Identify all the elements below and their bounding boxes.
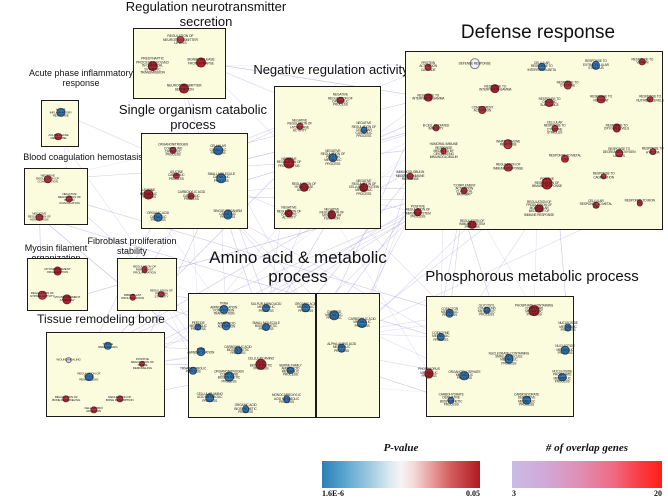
pvalue-max-label: 0.05	[458, 489, 480, 498]
cluster-title-blood-coagulation-hemostasis: Blood coagulation hemostasis	[8, 152, 158, 162]
overlap-colorbar	[512, 461, 662, 488]
pvalue-legend-title: P-value	[330, 442, 472, 454]
cluster-box-myosin-filament-organization[interactable]	[27, 258, 88, 311]
cluster-box-amino-acid-oxo-subcluster[interactable]	[316, 293, 380, 418]
cluster-box-acute-phase-inflammatory-response[interactable]	[41, 100, 79, 147]
cluster-box-fibroblast-proliferation-stability[interactable]	[117, 258, 177, 311]
overlap-legend-title: # of overlap genes	[512, 442, 662, 454]
pvalue-min-label: 1.6E-6	[322, 489, 344, 498]
cluster-box-single-organism-catabolic-process[interactable]	[141, 133, 248, 229]
cluster-box-amino-acid-metabolic-process[interactable]	[188, 293, 316, 418]
cluster-title-acute-phase-inflammatory-response: Acute phase inflammatory response	[14, 68, 148, 88]
cluster-title-negative-regulation-activity: Negative regulation activity	[235, 63, 427, 78]
pvalue-colorbar	[322, 461, 480, 488]
cluster-title-regulation-neurotransmitter-secretion: Regulation neurotransmitter secretion	[88, 0, 324, 29]
cluster-title-fibroblast-proliferation-stability: Fibroblast proliferation stability	[78, 236, 186, 256]
cluster-box-defense-response[interactable]	[405, 51, 663, 230]
cluster-title-single-organism-catabolic-process: Single organism catabolic process	[84, 103, 302, 132]
cluster-title-tissue-remodeling-bone: Tissue remodeling bone	[20, 313, 182, 326]
enrichment-map-figure: Regulation neurotransmitter secretionREG…	[0, 0, 668, 488]
cluster-box-phosphorous-metabolic-process[interactable]	[426, 296, 574, 417]
cluster-box-regulation-neurotransmitter-secretion[interactable]	[133, 28, 226, 99]
overlap-max-label: 20	[648, 489, 662, 498]
cluster-title-amino-acid-metabolic-process: Amino acid & metabolic process	[178, 248, 418, 286]
cluster-box-tissue-remodeling-bone[interactable]	[46, 332, 165, 417]
overlap-min-label: 3	[512, 489, 516, 498]
cluster-title-defense-response: Defense response	[420, 22, 656, 43]
cluster-box-blood-coagulation-hemostasis[interactable]	[24, 168, 88, 225]
cluster-box-negative-regulation-activity[interactable]	[274, 86, 381, 229]
cluster-title-phosphorous-metabolic-process: Phosphorous metabolic process	[396, 269, 668, 286]
